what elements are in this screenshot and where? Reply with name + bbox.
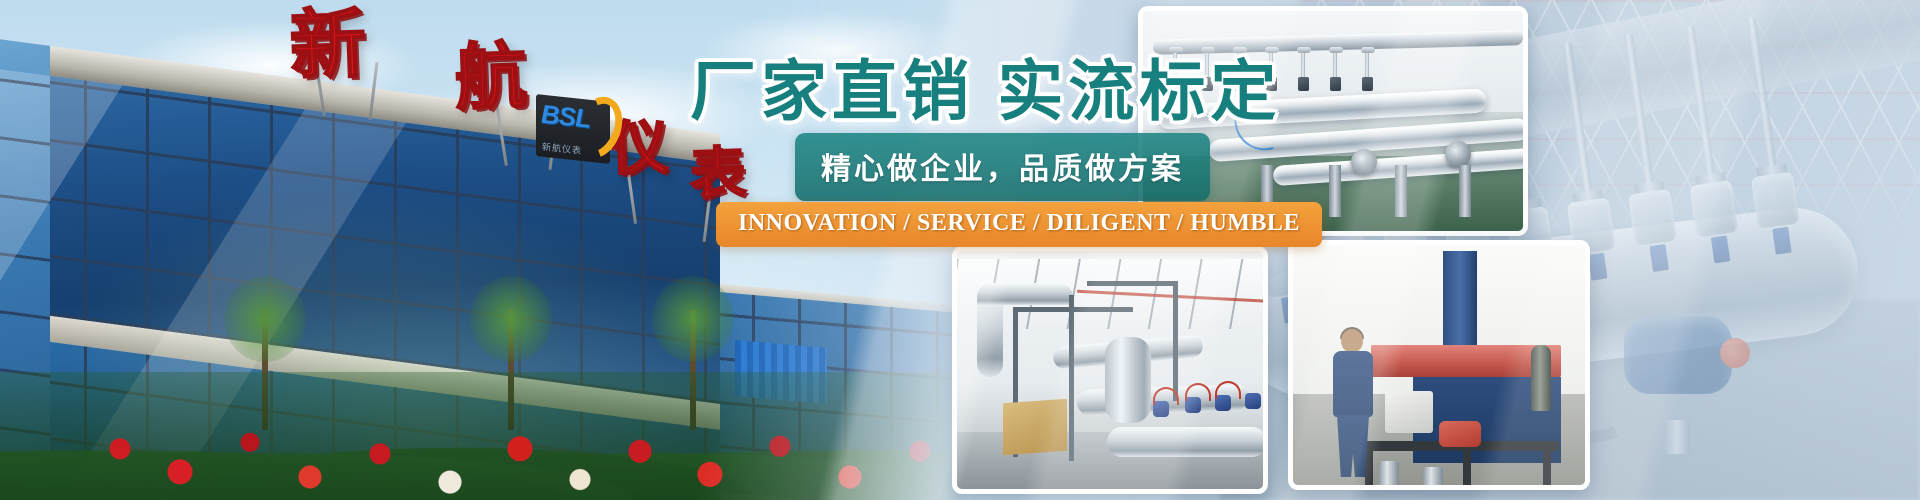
bsl-logo-sign: BSL 新航仪表 xyxy=(536,94,610,164)
banner-subtitle-box: 精心做企业，品质做方案 xyxy=(795,133,1210,201)
photo-piping-plant xyxy=(952,246,1268,494)
rose-flowerbed xyxy=(0,372,1000,500)
banner-slogan-box: INNOVATION / SERVICE / DILIGENT / HUMBLE xyxy=(716,202,1322,247)
banner-slogan-english: INNOVATION / SERVICE / DILIGENT / HUMBLE xyxy=(738,210,1300,237)
worker-figure xyxy=(1329,329,1377,479)
roof-sign-char-2: 航 xyxy=(454,41,530,116)
promotional-banner: 新 航 仪 表 BSL 新航仪表 xyxy=(0,0,1920,500)
banner-subtitle: 精心做企业，品质做方案 xyxy=(821,144,1184,188)
photo-worker-machine xyxy=(1288,240,1590,490)
banner-headline: 厂家直销 实流标定 xyxy=(690,38,1281,134)
roof-sign-char-1: 新 xyxy=(289,7,370,86)
roof-sign-char-4: 表 xyxy=(689,145,749,203)
